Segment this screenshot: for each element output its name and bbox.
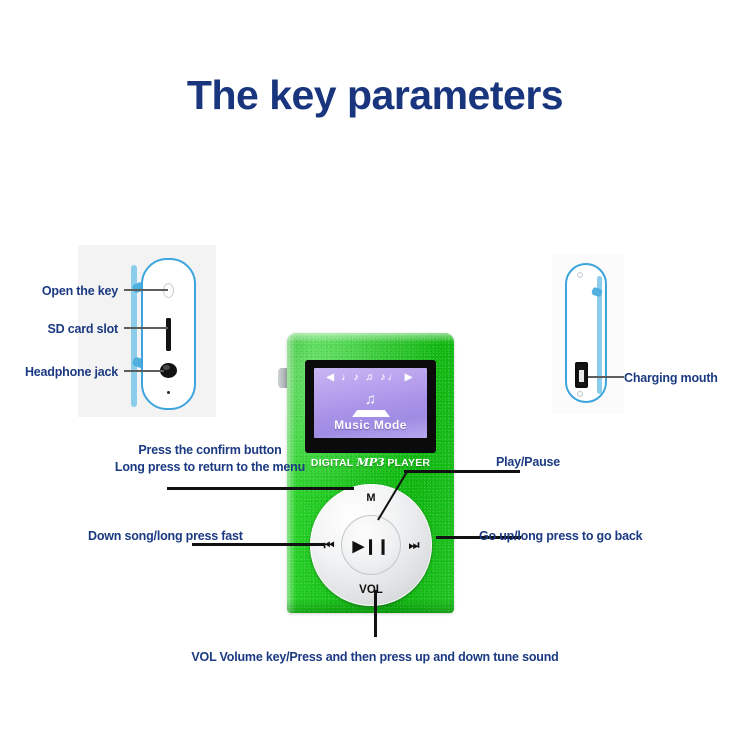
callout-confirm-line2: Long press to return to the menu bbox=[60, 458, 360, 476]
right-view-screw-bottom-icon bbox=[577, 391, 583, 397]
callout-play-pause: Play/Pause bbox=[496, 453, 560, 471]
screen-bezel: ◀ ♩♪ ♫ ♪♩ ▶ ♫ Music Mode bbox=[305, 360, 436, 453]
brand-mp3: MP3 bbox=[356, 455, 384, 469]
callout-open-the-key: Open the key bbox=[10, 282, 118, 300]
leader-open-the-key bbox=[124, 289, 168, 291]
leader-volume-vertical bbox=[374, 590, 377, 637]
lcd-status-icons: ◀ ♩♪ ♫ ♪♩ ▶ bbox=[314, 373, 427, 383]
lcd-screen: ◀ ♩♪ ♫ ♪♩ ▶ ♫ Music Mode bbox=[314, 368, 427, 438]
callout-sd-card-slot: SD card slot bbox=[10, 320, 118, 338]
volume-button-label[interactable]: VOL bbox=[310, 585, 432, 597]
left-view-dot-icon bbox=[167, 391, 170, 394]
leader-headphone-jack bbox=[124, 370, 164, 372]
leader-down-song bbox=[192, 543, 325, 546]
play-pause-icon[interactable]: ▶❙❙ bbox=[341, 539, 401, 554]
callout-volume: VOL Volume key/Press and then press up a… bbox=[125, 648, 625, 666]
menu-button-label[interactable]: M bbox=[310, 493, 432, 504]
callout-charging-mouth: Charging mouth bbox=[624, 369, 718, 387]
right-view-screw-top-icon bbox=[577, 272, 583, 278]
callout-confirm-line1: Press the confirm button bbox=[60, 441, 360, 459]
charging-port-icon bbox=[575, 362, 588, 388]
control-wheel[interactable]: M ⏮ ⏭ VOL ▶❙❙ bbox=[310, 484, 432, 606]
callout-headphone-jack: Headphone jack bbox=[0, 363, 118, 381]
music-note-icon: ♫ bbox=[314, 392, 427, 407]
lcd-mode-label: Music Mode bbox=[314, 418, 427, 432]
leader-sd-card-slot bbox=[124, 327, 168, 329]
next-track-button[interactable]: ⏭ bbox=[402, 539, 426, 551]
leader-confirm-button bbox=[167, 487, 354, 490]
body-top-bevel bbox=[287, 333, 454, 343]
lcd-plinth-shape bbox=[352, 410, 390, 417]
sd-card-slot-icon bbox=[166, 318, 171, 351]
callout-go-up: Go up/long press to go back bbox=[479, 527, 642, 545]
infographic-canvas: The key parameters Open the key SD card … bbox=[0, 0, 750, 750]
brand-suffix: PLAYER bbox=[384, 457, 430, 469]
page-title: The key parameters bbox=[0, 72, 750, 119]
leader-charging-mouth bbox=[588, 376, 624, 378]
